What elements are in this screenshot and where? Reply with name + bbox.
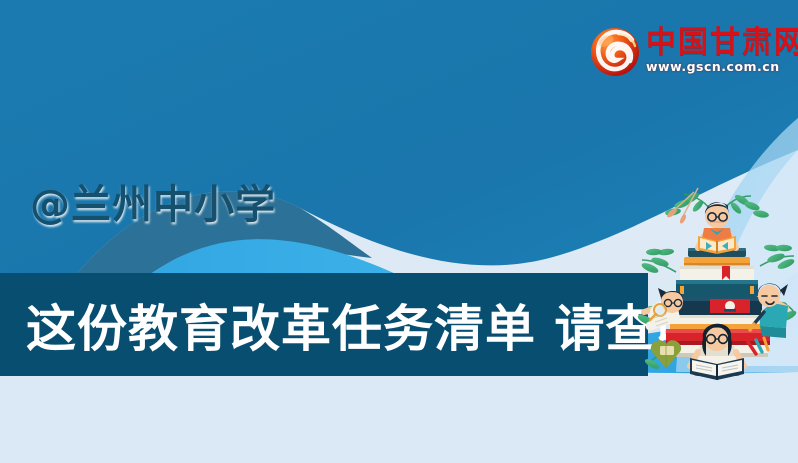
logo-name-text: 中国甘肃网	[646, 28, 798, 58]
poster-canvas: 中国甘肃网 www.gscn.com.cn @兰州中小学 这份教育改革任务清单 …	[0, 0, 798, 463]
poster-subtitle: @兰州中小学	[30, 172, 276, 230]
poster-title: 这份教育改革任务清单 请查收	[26, 273, 707, 376]
site-logo[interactable]: 中国甘肃网 www.gscn.com.cn	[588, 20, 794, 82]
logo-url-text: www.gscn.com.cn	[646, 61, 798, 74]
headline-band: 这份教育改革任务清单 请查收	[0, 273, 648, 376]
gansu-net-swirl-logo-icon	[588, 24, 642, 78]
child-top	[698, 202, 736, 254]
children-reading-books-illustration	[636, 186, 798, 382]
